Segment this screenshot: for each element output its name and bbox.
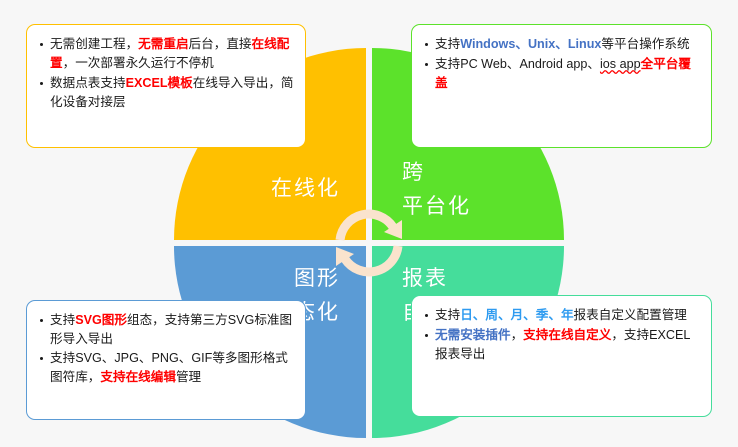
run-text: 报表自定义配置管理 — [574, 308, 687, 322]
callout-platform-list: 支持Windows、Unix、Linux等平台操作系统 支持PC Web、And… — [424, 35, 701, 93]
run-text: ，一次部署永久运行不停机 — [63, 56, 214, 70]
run-text: 后台， — [189, 37, 227, 51]
run-text: 支持 — [435, 37, 460, 51]
wheel-quadrant-online-line1: 在线化 — [271, 172, 340, 206]
list-item: 支持SVG、JPG、PNG、GIF等多图形格式图符库，支持在线编辑管理 — [39, 349, 295, 386]
run-text-misspelled: ios app — [600, 57, 641, 71]
run-text-emphasis: Unix — [528, 37, 555, 51]
run-text-sep: 、 — [515, 37, 528, 51]
run-text-emphasis: SVG图形 — [75, 313, 127, 327]
list-item: 无需安装插件，支持在线自定义，支持EXCEL报表导出 — [424, 326, 701, 364]
list-item: 支持日、周、月、季、年报表自定义配置管理 — [424, 306, 701, 325]
run-text-emphasis: 支持在线编辑 — [100, 370, 176, 384]
run-text-emphasis: 支持在线自定义 — [523, 328, 611, 342]
list-item: 数据点表支持EXCEL模板在线导入导出，简化设备对接层 — [39, 74, 295, 112]
list-item: 支持SVG图形组态，支持第三方SVG标准图形导入导出 — [39, 311, 295, 348]
run-text-emphasis: 无需重启 — [138, 37, 188, 51]
callout-report-list: 支持日、周、月、季、年报表自定义配置管理 无需安装插件，支持在线自定义，支持EX… — [424, 306, 701, 364]
run-text-sep: 、 — [555, 37, 568, 51]
run-text: 无需创建工程， — [50, 37, 138, 51]
run-text-emphasis: EXCEL模板 — [126, 76, 193, 90]
callout-online: 无需创建工程，无需重启后台，直接在线配置，一次部署永久运行不停机 数据点表支持E… — [26, 24, 306, 148]
list-item: 无需创建工程，无需重启后台，直接在线配置，一次部署永久运行不停机 — [39, 35, 295, 73]
wheel-quadrant-report-line1: 报表 — [402, 262, 448, 296]
callout-report: 支持日、周、月、季、年报表自定义配置管理 无需安装插件，支持在线自定义，支持EX… — [411, 295, 712, 417]
wheel-quadrant-platform-line1: 跨 — [402, 156, 425, 190]
run-text: 支持 — [435, 308, 460, 322]
callout-platform: 支持Windows、Unix、Linux等平台操作系统 支持PC Web、And… — [411, 24, 712, 148]
run-text: 支持 — [50, 313, 75, 327]
callout-graphics-list: 支持SVG图形组态，支持第三方SVG标准图形导入导出 支持SVG、JPG、PNG… — [39, 311, 295, 386]
run-text: 管理 — [176, 370, 201, 384]
run-text-emphasis: 无需安装插件 — [435, 328, 511, 342]
callout-graphics: 支持SVG图形组态，支持第三方SVG标准图形导入导出 支持SVG、JPG、PNG… — [26, 300, 306, 420]
list-item: 支持PC Web、Android app、ios app全平台覆盖 — [424, 55, 701, 93]
run-text: 直接 — [226, 37, 251, 51]
infographic-canvas: 在线化 跨 平台化 图形 组态化 报表 自定义化 — [0, 0, 738, 447]
callout-online-list: 无需创建工程，无需重启后台，直接在线配置，一次部署永久运行不停机 数据点表支持E… — [39, 35, 295, 112]
list-item: 支持Windows、Unix、Linux等平台操作系统 — [424, 35, 701, 54]
wheel-quadrant-graphics-line1: 图形 — [294, 262, 340, 296]
run-text-emphasis: 日、周、月、季、年 — [460, 308, 573, 322]
run-text: 数据点表支持 — [50, 76, 126, 90]
run-text: ， — [511, 328, 524, 342]
run-text-emphasis: Windows — [460, 37, 515, 51]
wheel-quadrant-platform-line2: 平台化 — [402, 190, 471, 224]
run-text: 等平台操作系统 — [601, 37, 689, 51]
run-text-emphasis: Linux — [568, 37, 602, 51]
run-text: 支持PC Web、Android app、 — [435, 57, 600, 71]
